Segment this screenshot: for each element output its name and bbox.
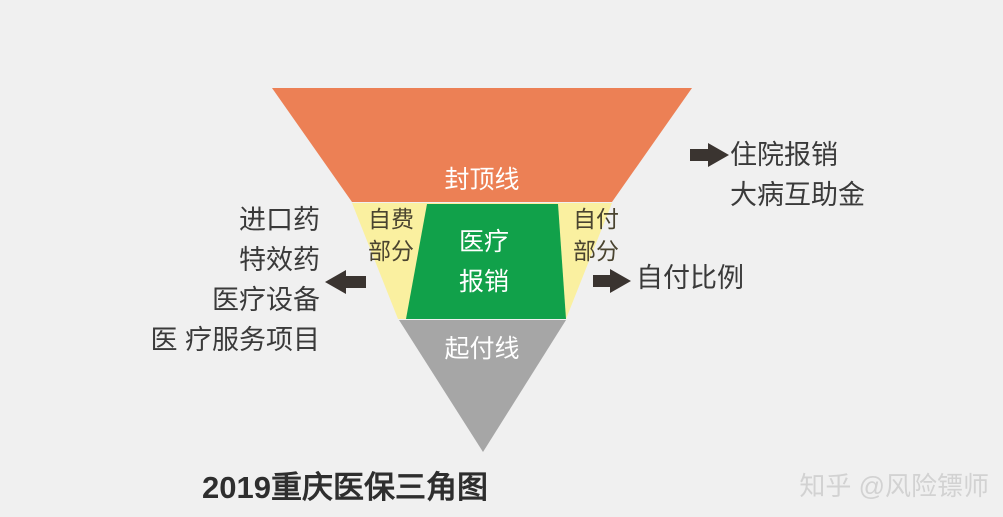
- right-arrow-mid-icon: [593, 269, 631, 293]
- diagram-canvas: 封顶线 医疗 报销 起付线 自费 部分 自付 部分 进口药 特效药 医疗设备 医…: [0, 0, 1003, 517]
- self-pay-left-label: 自费 部分: [355, 203, 427, 267]
- chart-title: 2019重庆医保三角图: [0, 462, 690, 507]
- self-pay-right-label: 自付 部分: [560, 203, 632, 267]
- right-annotation-top-line-2: 大病互助金: [730, 175, 865, 215]
- self-pay-right-line2: 部分: [560, 235, 632, 267]
- cap-line-label: 封顶线: [444, 166, 519, 194]
- self-pay-right-line1: 自付: [560, 203, 632, 235]
- left-annotation-line-1: 进口药: [100, 200, 320, 240]
- right-arrow-top-icon: [690, 143, 729, 167]
- reimbursement-label-line1: 医疗: [459, 228, 509, 256]
- right-annotation-mid: 自付比例: [636, 258, 744, 298]
- self-pay-left-line2: 部分: [355, 235, 427, 267]
- left-annotation: 进口药 特效药 医疗设备 医 疗服务项目: [100, 200, 320, 360]
- right-annotation-mid-line-1: 自付比例: [636, 258, 744, 298]
- watermark: 知乎 @风险镖师: [799, 466, 989, 503]
- self-pay-left-line1: 自费: [355, 203, 427, 235]
- left-annotation-line-4: 医 疗服务项目: [100, 320, 320, 360]
- left-arrow-icon: [325, 270, 366, 294]
- left-annotation-line-3: 医疗设备: [100, 280, 320, 320]
- deductible-line-label: 起付线: [444, 335, 519, 363]
- funnel-band-medical-reimbursement: [406, 204, 566, 319]
- reimbursement-label-line2: 报销: [459, 268, 509, 296]
- left-annotation-line-2: 特效药: [100, 240, 320, 280]
- right-annotation-top: 住院报销 大病互助金: [730, 135, 865, 215]
- right-annotation-top-line-1: 住院报销: [730, 135, 865, 175]
